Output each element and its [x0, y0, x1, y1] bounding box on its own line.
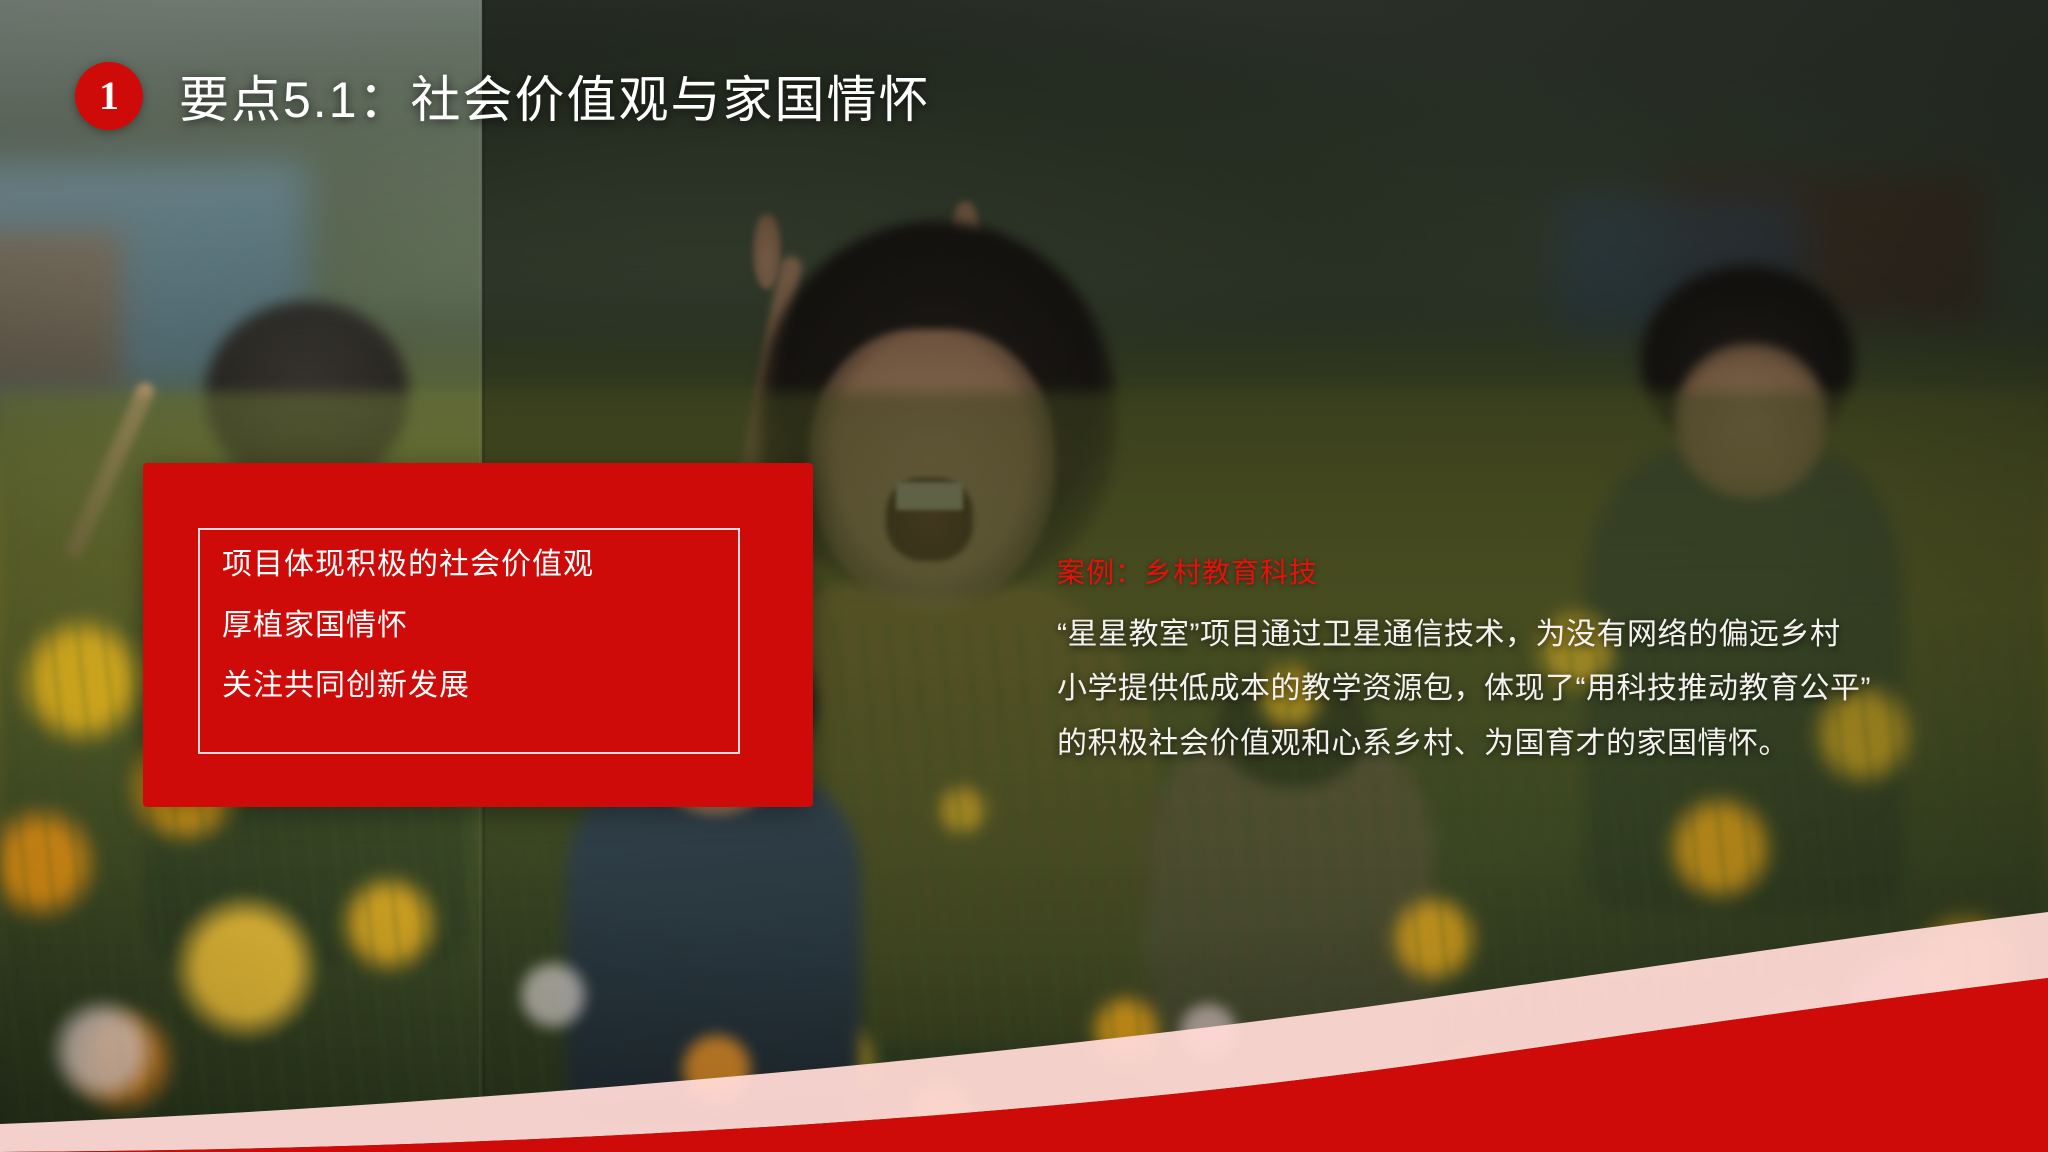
key-point-item: 项目体现积极的社会价值观	[222, 548, 728, 583]
case-study-body: “星星教室”项目通过卫星通信技术，为没有网络的偏远乡村 小学提供低成本的教学资源…	[1057, 608, 1957, 772]
case-study-heading: 案例：乡村教育科技	[1057, 556, 1957, 590]
key-point-item: 关注共同创新发展	[222, 669, 728, 704]
case-body-line: 的积极社会价值观和心系乡村、为国育才的家国情怀。	[1057, 717, 1957, 772]
case-body-line: “星星教室”项目通过卫星通信技术，为没有网络的偏远乡村	[1057, 608, 1957, 663]
key-points-inner-border: 项目体现积极的社会价值观 厚植家国情怀 关注共同创新发展	[198, 528, 740, 754]
slide: 1 要点5.1：社会价值观与家国情怀 项目体现积极的社会价值观 厚植家国情怀 关…	[0, 0, 2048, 1152]
key-point-item: 厚植家国情怀	[222, 609, 728, 644]
key-points-list: 项目体现积极的社会价值观 厚植家国情怀 关注共同创新发展	[222, 548, 728, 704]
case-body-line: 小学提供低成本的教学资源包，体现了“用科技推动教育公平”	[1057, 662, 1957, 717]
page-title: 要点5.1：社会价值观与家国情怀	[179, 60, 931, 132]
slide-title-row: 1 要点5.1：社会价值观与家国情怀	[75, 60, 931, 132]
case-study-block: 案例：乡村教育科技 “星星教室”项目通过卫星通信技术，为没有网络的偏远乡村 小学…	[1057, 556, 1957, 771]
key-points-panel: 项目体现积极的社会价值观 厚植家国情怀 关注共同创新发展	[143, 463, 813, 807]
section-number-badge: 1	[75, 62, 143, 130]
